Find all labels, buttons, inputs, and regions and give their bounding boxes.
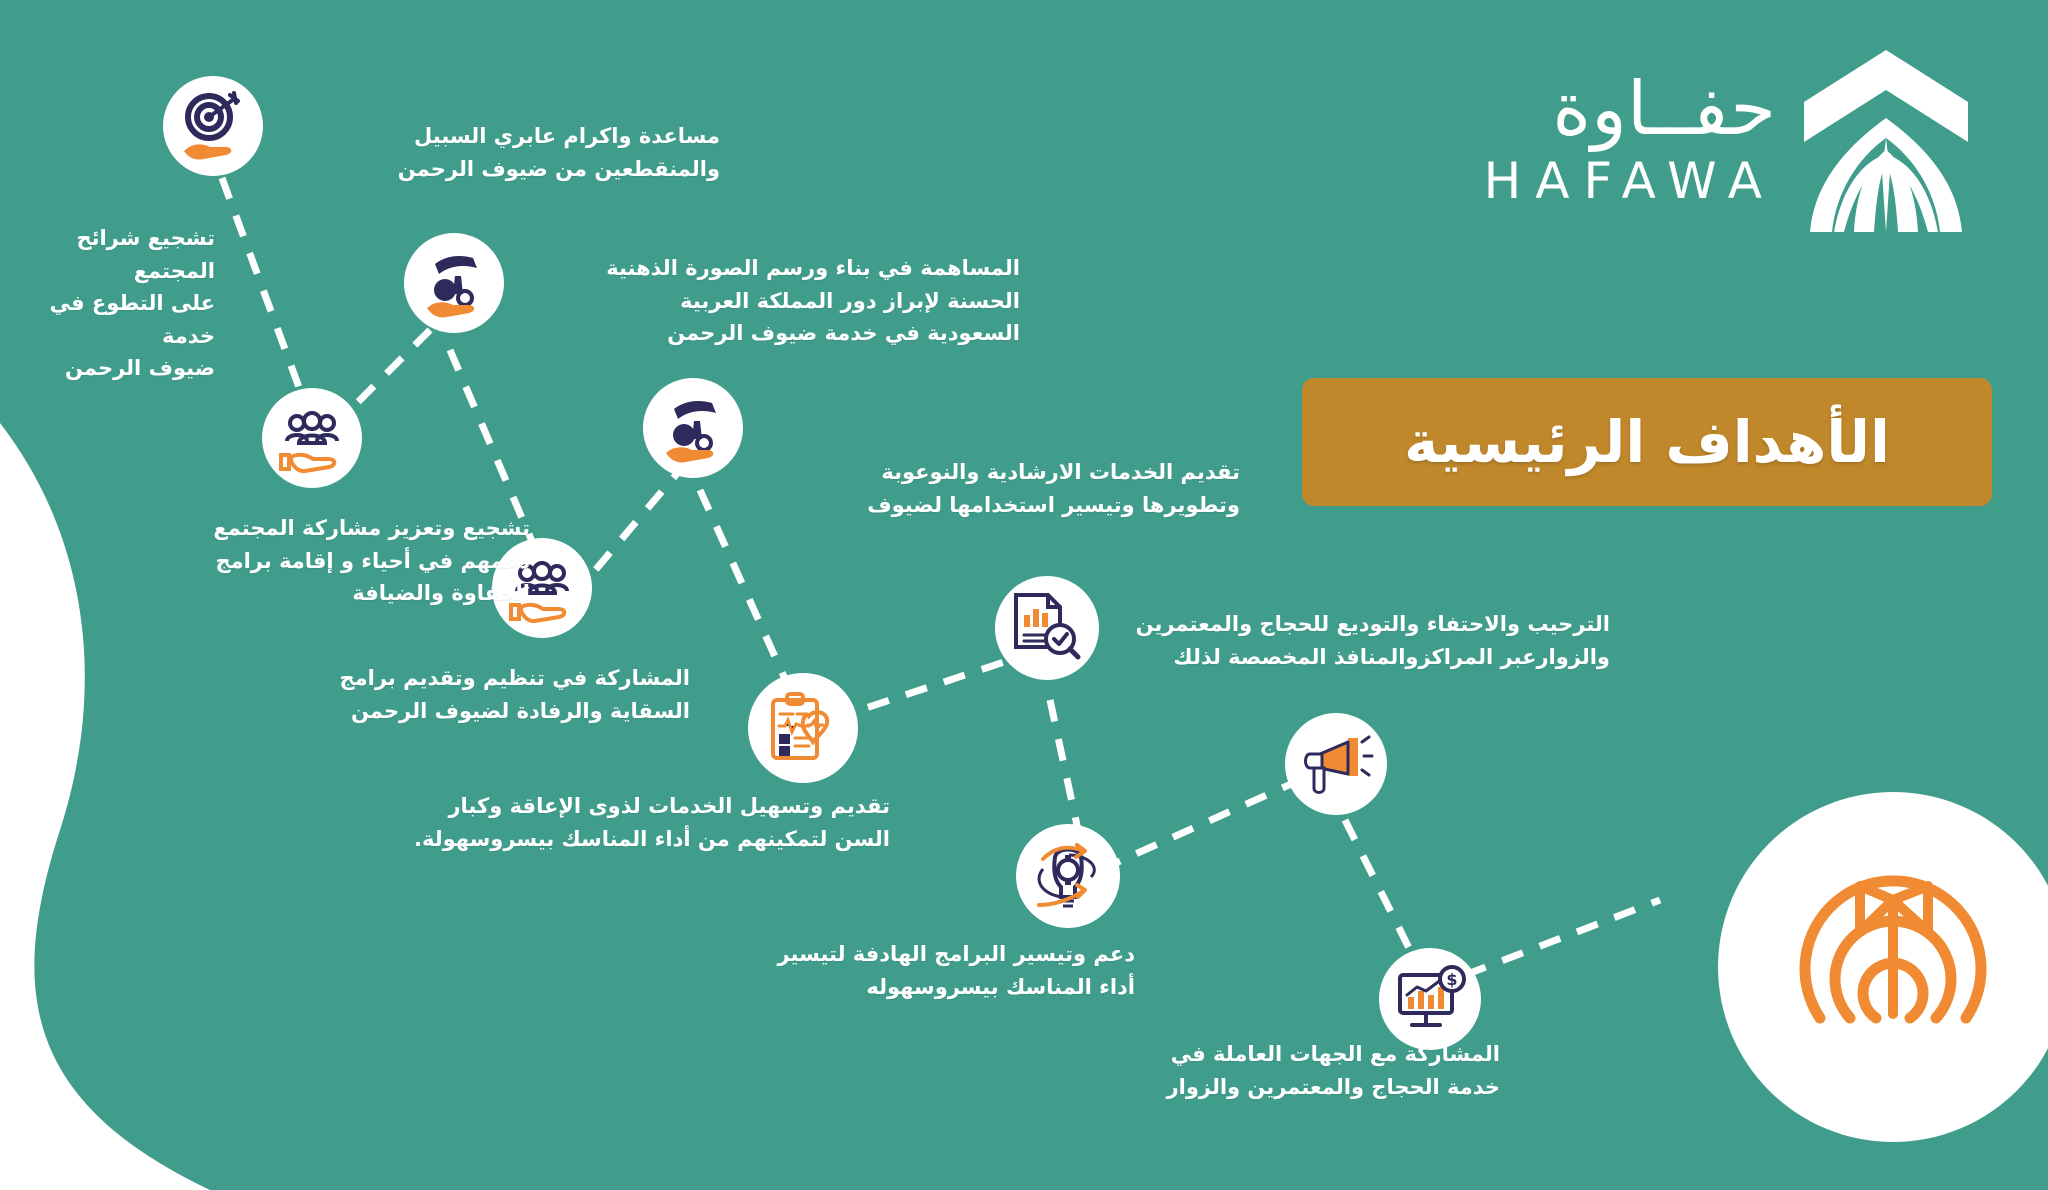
- clipboard-heart-checklist-icon: [763, 688, 843, 768]
- node-obj-7[interactable]: [995, 576, 1099, 680]
- caption-obj-2: تشجيع شرائح المجتمع على التطوع في خدمة ض…: [0, 222, 215, 385]
- node-obj-6[interactable]: [748, 673, 858, 783]
- wheelchair-on-hand-icon: [656, 391, 730, 465]
- caption-obj-6: تقديم الخدمات الارشادية والنوعوبة وتطوير…: [790, 456, 1240, 521]
- wheelchair-on-hand-icon: [417, 246, 491, 320]
- megaphone-icon: [1298, 726, 1374, 802]
- caption-obj-5: المشاركة في تنظيم وتقديم برامج السقاية و…: [290, 662, 690, 727]
- saudi-palm-crest-icon: [1802, 46, 1970, 232]
- page-title: الأهداف الرئيسية: [1404, 408, 1890, 476]
- people-group-on-hand-icon: [275, 401, 349, 475]
- caption-obj-4: تشجيع وتعزيز مشاركة المجتمع دعمهم في أحي…: [110, 512, 530, 610]
- brand-name-arabic: حفــاوة: [1552, 72, 1776, 146]
- document-report-search-icon: [1008, 589, 1086, 667]
- node-obj-2[interactable]: [262, 388, 362, 488]
- node-obj-1[interactable]: [163, 76, 263, 176]
- node-obj-5[interactable]: [643, 378, 743, 478]
- page-title-banner: الأهداف الرئيسية: [1302, 378, 1992, 506]
- target-arrow-icon: [1768, 842, 2018, 1092]
- monitor-financial-chart-icon: $: [1392, 961, 1468, 1037]
- target-on-hand-icon: [176, 89, 250, 163]
- node-obj-10[interactable]: $: [1379, 948, 1481, 1050]
- node-obj-3[interactable]: [404, 233, 504, 333]
- caption-obj-9: دعم وتيسير البرامج الهادفة لتيسير أداء ا…: [745, 938, 1135, 1003]
- caption-obj-3: المساهمة في بناء ورسم الصورة الذهنية الح…: [560, 252, 1020, 350]
- brand-name-english: HAFAWA: [1484, 156, 1776, 206]
- node-obj-9[interactable]: [1016, 824, 1120, 928]
- caption-obj-10: المشاركة مع الجهات العاملة في خدمة الحجا…: [1100, 1038, 1500, 1103]
- brand-logo: حفــاوة HAFAWA: [1484, 46, 1970, 232]
- infographic-canvas: حفــاوة HAFAWA الأهداف الرئيسية: [0, 0, 2048, 1152]
- caption-obj-1: مساعدة واكرام عابري السبيل والمنقطعين من…: [320, 120, 720, 185]
- lightbulb-gear-innovation-icon: [1029, 837, 1107, 915]
- caption-obj-7: تقديم وتسهيل الخدمات لذوى الإعاقة وكبار …: [400, 790, 890, 855]
- big-target-decoration: [1718, 792, 2048, 1142]
- caption-obj-8: الترحيب والاحتفاء والتوديع للحجاج والمعت…: [1110, 608, 1610, 673]
- node-obj-8[interactable]: [1285, 713, 1387, 815]
- svg-text:$: $: [1446, 970, 1457, 989]
- brand-logo-text: حفــاوة HAFAWA: [1484, 72, 1776, 206]
